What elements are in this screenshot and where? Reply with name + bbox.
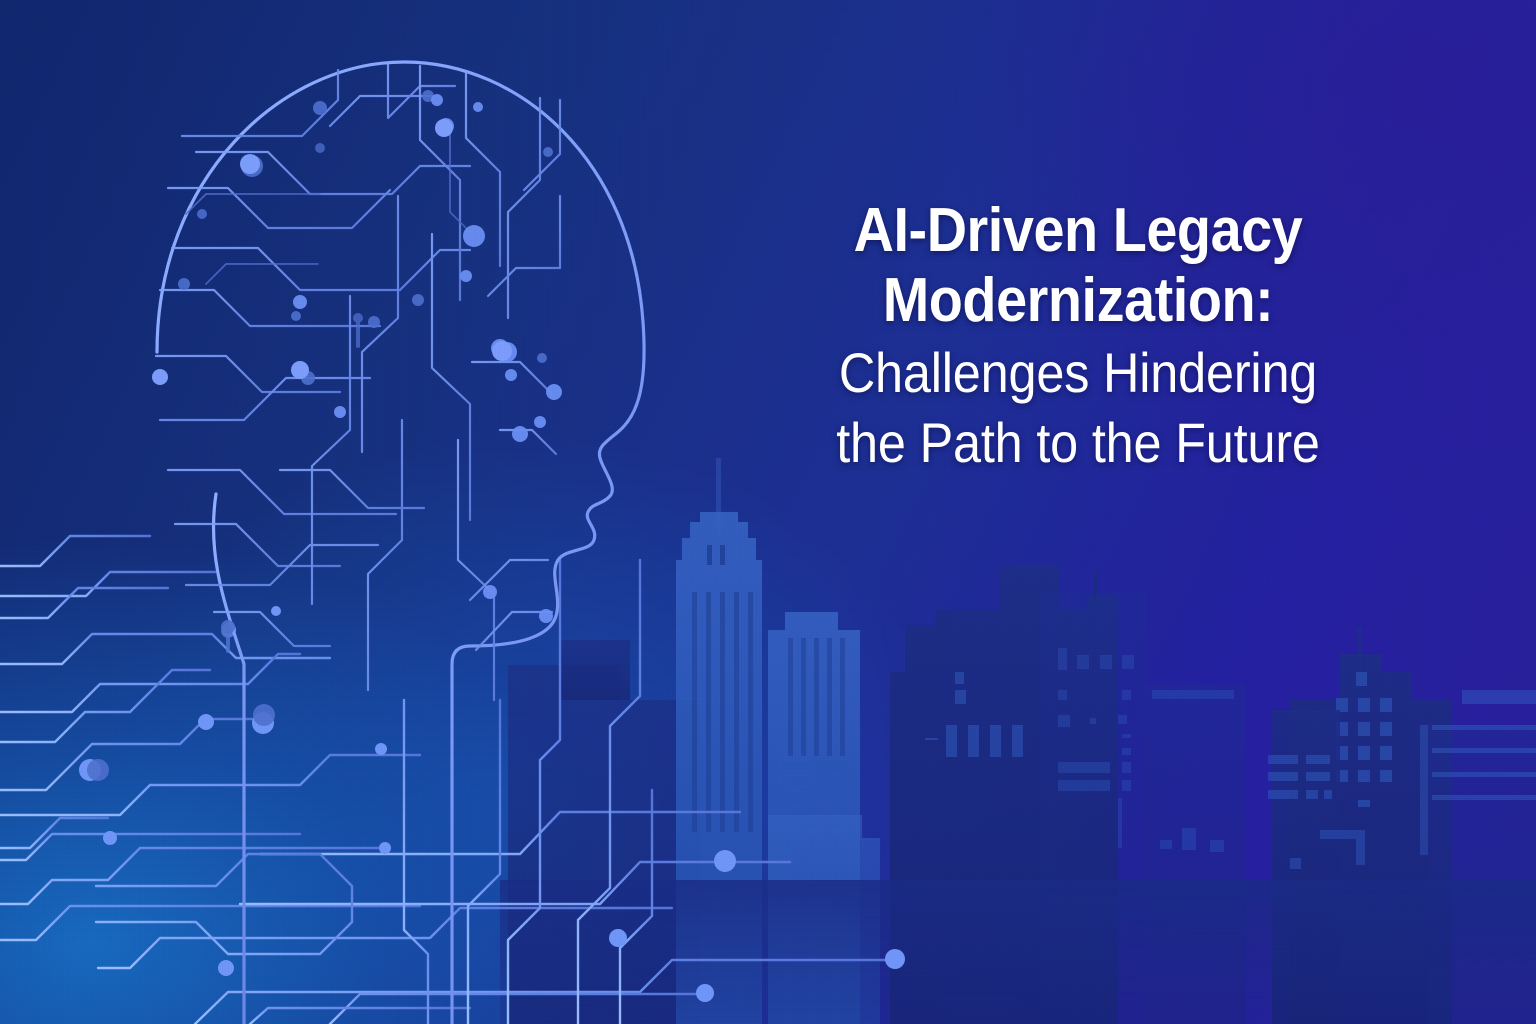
hero-banner: AI-Driven Legacy Modernization: Challeng… [0, 0, 1536, 1024]
hero-subtitle-line-1: Challenges Hindering [776, 336, 1381, 406]
hero-title-line-1: AI-Driven Legacy [776, 196, 1381, 266]
grain-overlay [0, 0, 1536, 1024]
hero-title-line-2: Modernization: [776, 266, 1381, 336]
hero-subtitle-line-2: the Path to the Future [776, 406, 1381, 476]
hero-title-block: AI-Driven Legacy Modernization: Challeng… [742, 196, 1414, 476]
